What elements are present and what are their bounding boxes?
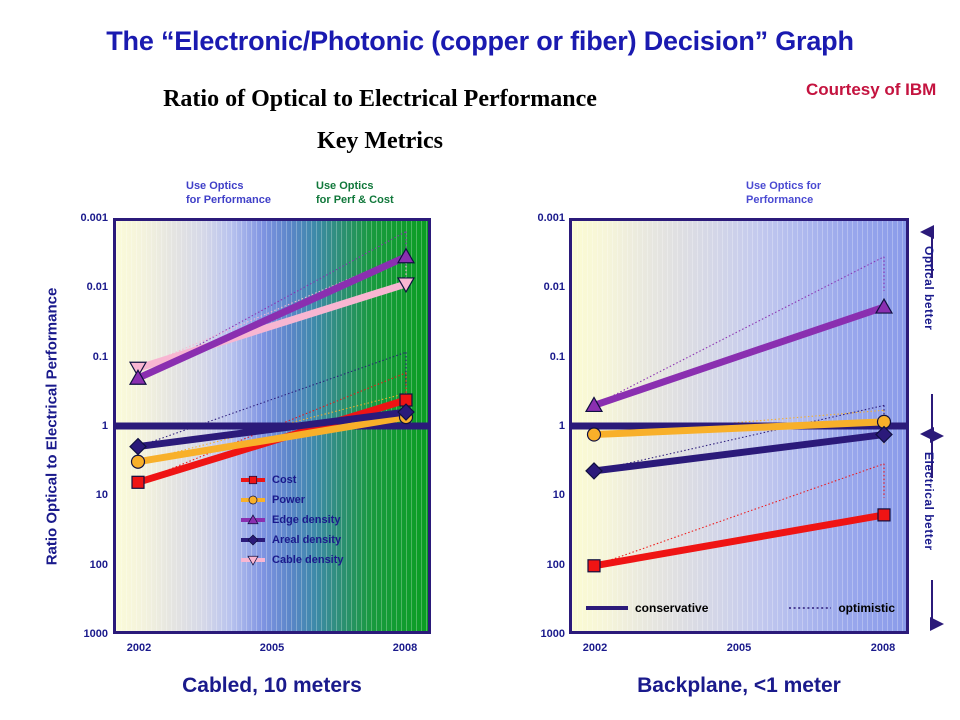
series-line-optimistic — [594, 257, 884, 406]
data-point-marker — [249, 476, 256, 483]
data-point-marker — [248, 535, 258, 545]
legend-item: Areal density — [240, 530, 344, 550]
style-legend-item: conservative — [585, 601, 708, 615]
series-line-conservative — [594, 307, 884, 405]
y-tick-label: 100 — [50, 559, 108, 571]
y-tick-label: 0.01 — [507, 281, 565, 293]
y-tick-label: 0.1 — [50, 351, 108, 363]
side-label-electrical-better: Electrical better — [922, 452, 936, 551]
side-label-optical-better: Optical better — [922, 246, 936, 330]
chart-panel-backplane — [569, 218, 909, 634]
data-point-marker — [130, 439, 146, 455]
zone-line-1: Use Optics — [186, 180, 271, 194]
panel-caption-right: Backplane, <1 meter — [569, 674, 909, 698]
zone-line-2: for Performance — [186, 194, 271, 208]
legend-marker-triangle-down-icon — [240, 553, 266, 567]
y-tick-labels-right: 10001001010.10.010.001 — [505, 218, 565, 634]
legend-label: Cost — [272, 474, 296, 486]
zone-annotation-optics-performance: Use Optics for Performance — [186, 180, 271, 208]
y-tick-labels-left: 10001001010.10.010.001 — [48, 218, 108, 634]
y-tick-label: 0.01 — [50, 281, 108, 293]
y-tick-label: 10 — [507, 489, 565, 501]
y-tick-label: 100 — [507, 559, 565, 571]
data-point-marker — [249, 496, 257, 504]
legend-label: Edge density — [272, 514, 340, 526]
x-tick-labels-right: 200220052008 — [569, 642, 909, 660]
data-point-marker — [588, 428, 601, 441]
chart-panel-cabled — [113, 218, 431, 634]
chart-title: Ratio of Optical to Electrical Performan… — [0, 86, 760, 113]
zone-line-2: Performance — [746, 194, 821, 208]
x-tick-label: 2002 — [127, 642, 151, 654]
courtesy-label: Courtesy of IBM — [806, 80, 936, 100]
x-tick-label: 2008 — [871, 642, 895, 654]
series-line-conservative — [594, 515, 884, 566]
panel-caption-left: Cabled, 10 meters — [113, 674, 431, 698]
y-tick-label: 1 — [507, 420, 565, 432]
data-point-marker — [132, 455, 145, 468]
plot-area-left — [113, 218, 431, 634]
zone-annotation-right-optics-performance: Use Optics for Performance — [746, 180, 821, 208]
legend-label: Areal density — [272, 534, 341, 546]
y-tick-label: 1000 — [50, 628, 108, 640]
legend-marker-triangle-up-icon — [240, 513, 266, 527]
zone-annotation-optics-perf-cost: Use Optics for Perf & Cost — [316, 180, 394, 208]
series-canvas-right — [572, 221, 906, 631]
y-tick-label: 0.001 — [507, 212, 565, 224]
legend-item: Cost — [240, 470, 344, 490]
zone-line-1: Use Optics — [316, 180, 394, 194]
y-tick-label: 1000 — [507, 628, 565, 640]
legend-item: Power — [240, 490, 344, 510]
data-point-marker — [132, 476, 144, 488]
x-tick-label: 2008 — [393, 642, 417, 654]
series-line-conservative — [138, 257, 406, 379]
style-legend-label: conservative — [635, 601, 708, 615]
x-tick-labels-left: 200220052008 — [113, 642, 431, 660]
y-tick-label: 1 — [50, 420, 108, 432]
style-legend-item: optimistic — [788, 601, 895, 615]
data-point-marker — [878, 509, 890, 521]
legend-item: Edge density — [240, 510, 344, 530]
series-legend: CostPowerEdge densityAreal densityCable … — [240, 470, 344, 570]
legend-label: Cable density — [272, 554, 344, 566]
zone-line-1: Use Optics for — [746, 180, 821, 194]
legend-marker-circle-icon — [240, 493, 266, 507]
style-legend-label: optimistic — [838, 601, 895, 615]
series-line-conservative — [138, 284, 406, 368]
zone-line-2: for Perf & Cost — [316, 194, 394, 208]
y-tick-label: 0.1 — [507, 351, 565, 363]
plot-area-right — [569, 218, 909, 634]
page-title: The “Electronic/Photonic (copper or fibe… — [0, 26, 960, 57]
legend-item: Cable density — [240, 550, 344, 570]
x-tick-label: 2005 — [727, 642, 751, 654]
legend-line-solid-icon — [585, 603, 629, 613]
x-tick-label: 2005 — [260, 642, 284, 654]
x-tick-label: 2002 — [583, 642, 607, 654]
y-tick-label: 0.001 — [50, 212, 108, 224]
data-point-marker — [586, 463, 602, 479]
series-line-optimistic — [594, 464, 884, 566]
y-tick-label: 10 — [50, 489, 108, 501]
chart-subtitle: Key Metrics — [0, 128, 760, 155]
line-style-legend: conservativeoptimistic — [585, 597, 895, 619]
legend-marker-square-icon — [240, 473, 266, 487]
series-line-conservative — [594, 435, 884, 471]
legend-label: Power — [272, 494, 305, 506]
data-point-marker — [588, 560, 600, 572]
legend-marker-diamond-icon — [240, 533, 266, 547]
legend-line-dotted-icon — [788, 603, 832, 613]
